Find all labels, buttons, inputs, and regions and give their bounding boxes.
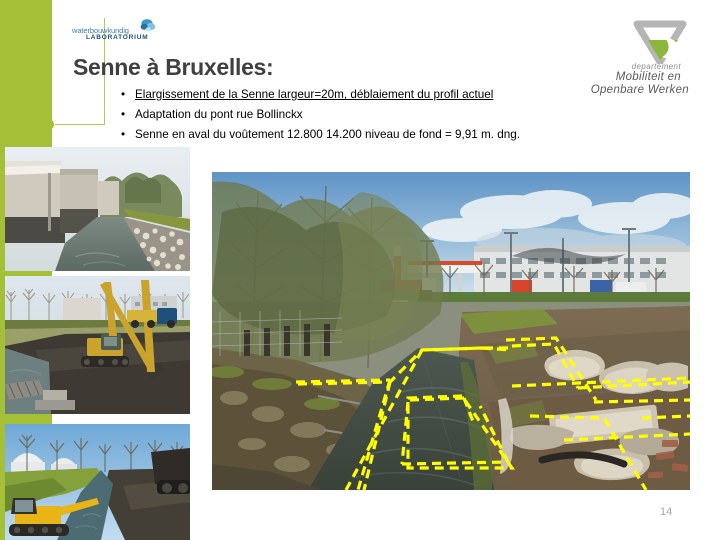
photo-3-artwork bbox=[5, 424, 190, 540]
bullet-item-1: • Elargissement de la Senne largeur=20m,… bbox=[118, 86, 638, 103]
photo-main-artwork bbox=[212, 172, 690, 490]
departement-line-1: Mobiliteit en bbox=[616, 71, 681, 83]
photo-2-artwork bbox=[5, 276, 190, 414]
bullet-text-2: Adaptation du pont rue Bollinckx bbox=[135, 108, 303, 121]
water-droplet-icon bbox=[136, 18, 156, 34]
departement-sublabel: departement bbox=[632, 62, 681, 71]
slide-title: Senne à Bruxelles: bbox=[73, 54, 273, 81]
bullet-item-2: • Adaptation du pont rue Bollinckx bbox=[118, 106, 638, 123]
logo-line-2: LABORATORIUM bbox=[86, 34, 148, 41]
slide-root: waterbouwkundig LABORATORIUM departement… bbox=[0, 0, 720, 540]
photo-main-senne-widening bbox=[212, 172, 690, 490]
bullet-text-3: Senne en aval du voûtement 12.800 14.200… bbox=[135, 128, 520, 141]
bullet-list: • Elargissement de la Senne largeur=20m,… bbox=[118, 86, 638, 146]
photo-excavator-bank-works bbox=[5, 276, 190, 414]
triangular-swirl-icon bbox=[631, 18, 689, 64]
bullet-marker-icon: • bbox=[121, 86, 125, 103]
photo-1-artwork bbox=[5, 147, 190, 271]
departement-logo: departement Mobiliteit en Openbare Werke… bbox=[580, 18, 705, 96]
photo-senne-narrow-channel bbox=[5, 147, 190, 271]
photo-yellow-excavator-river bbox=[5, 424, 190, 540]
bullet-item-3: • Senne en aval du voûtement 12.800 14.2… bbox=[118, 126, 638, 143]
bullet-marker-icon: • bbox=[121, 106, 125, 123]
decorative-green-dot bbox=[43, 119, 54, 130]
decorative-horizontal-line bbox=[55, 124, 105, 125]
bullet-text-1: Elargissement de la Senne largeur=20m, d… bbox=[135, 88, 493, 101]
waterbouwkundig-laboratorium-logo: waterbouwkundig LABORATORIUM bbox=[72, 17, 162, 47]
page-number: 14 bbox=[660, 506, 672, 518]
bullet-marker-icon: • bbox=[121, 126, 125, 143]
